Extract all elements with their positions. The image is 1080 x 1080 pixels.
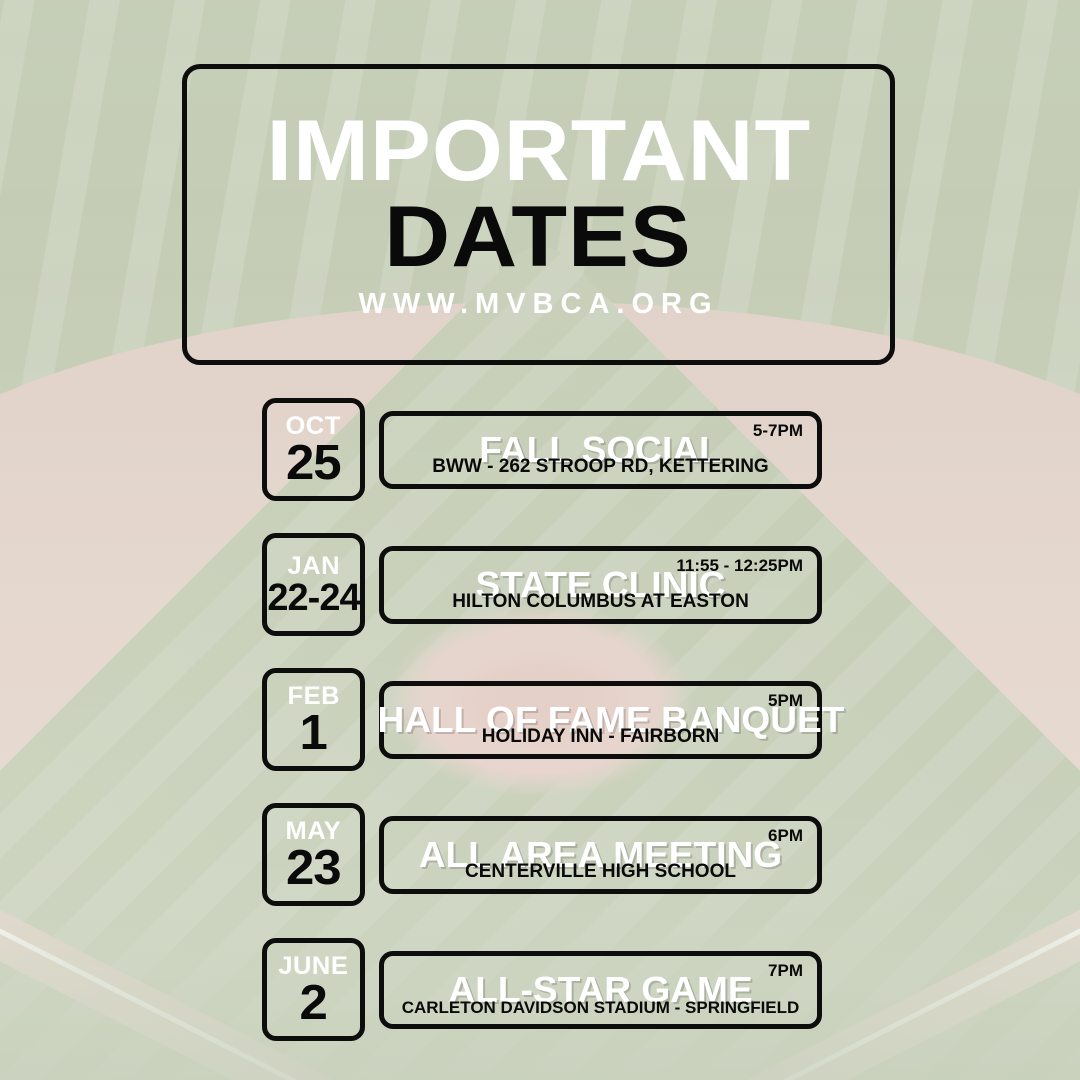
event-card: 5PM HALL OF FAME BANQUET HOLIDAY INN - F… — [379, 681, 822, 759]
event-venue: BWW - 262 STROOP RD, KETTERING — [384, 457, 817, 476]
date-badge: JUNE 2 — [262, 938, 365, 1041]
date-badge: OCT 25 — [262, 398, 365, 501]
title-card: IMPORTANT DATES WWW.MVBCA.ORG — [182, 64, 895, 365]
event-card: 6PM ALL AREA MEETING CENTERVILLE HIGH SC… — [379, 816, 822, 894]
date-month: JAN — [287, 554, 340, 579]
date-day: 2 — [300, 980, 327, 1027]
event-venue: CENTERVILLE HIGH SCHOOL — [384, 862, 817, 881]
event-row: OCT 25 5-7PM FALL SOCIAL BWW - 262 STROO… — [0, 398, 1080, 501]
website-url[interactable]: WWW.MVBCA.ORG — [358, 288, 718, 321]
event-venue: HILTON COLUMBUS AT EASTON — [384, 592, 817, 611]
page-title-primary: IMPORTANT — [266, 112, 811, 191]
date-day: 1 — [300, 710, 327, 757]
event-card: 11:55 - 12:25PM STATE CLINIC HILTON COLU… — [379, 546, 822, 624]
event-row: FEB 1 5PM HALL OF FAME BANQUET HOLIDAY I… — [0, 668, 1080, 771]
event-venue: CARLETON DAVIDSON STADIUM - SPRINGFIELD — [384, 999, 817, 1016]
events-list: OCT 25 5-7PM FALL SOCIAL BWW - 262 STROO… — [0, 398, 1080, 1073]
event-card: 5-7PM FALL SOCIAL BWW - 262 STROOP RD, K… — [379, 411, 822, 489]
page-title-secondary: DATES — [385, 194, 692, 280]
date-day: 25 — [286, 440, 341, 487]
date-badge: MAY 23 — [262, 803, 365, 906]
event-row: JUNE 2 7PM ALL-STAR GAME CARLETON DAVIDS… — [0, 938, 1080, 1041]
event-row: JAN 22-24 11:55 - 12:25PM STATE CLINIC H… — [0, 533, 1080, 636]
date-day: 23 — [286, 845, 341, 892]
event-venue: HOLIDAY INN - FAIRBORN — [384, 727, 817, 746]
important-dates-poster: IMPORTANT DATES WWW.MVBCA.ORG OCT 25 5-7… — [0, 0, 1080, 1080]
date-badge: JAN 22-24 — [262, 533, 365, 636]
event-card: 7PM ALL-STAR GAME CARLETON DAVIDSON STAD… — [379, 951, 822, 1029]
event-row: MAY 23 6PM ALL AREA MEETING CENTERVILLE … — [0, 803, 1080, 906]
date-day: 22-24 — [267, 580, 359, 616]
date-badge: FEB 1 — [262, 668, 365, 771]
poster-content: IMPORTANT DATES WWW.MVBCA.ORG OCT 25 5-7… — [0, 0, 1080, 1080]
